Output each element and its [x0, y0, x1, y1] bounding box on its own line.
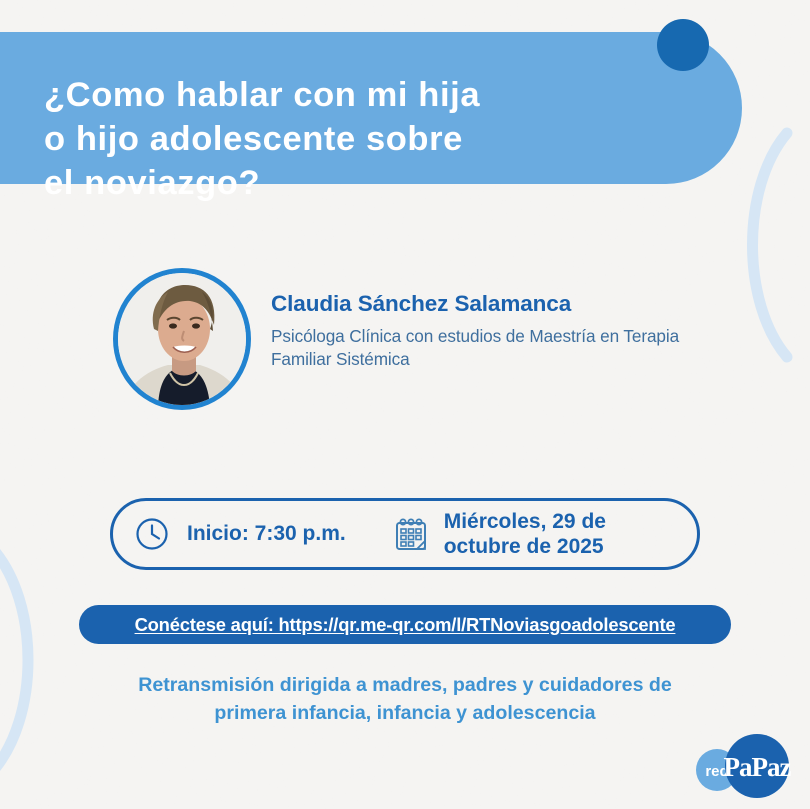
- speaker-name: Claudia Sánchez Salamanca: [271, 292, 711, 317]
- speaker-block: Claudia Sánchez Salamanca Psicóloga Clín…: [113, 268, 713, 414]
- red-papaz-logo: red PaPaz: [691, 733, 796, 799]
- time-group: Inicio: 7:30 p.m.: [135, 517, 346, 551]
- schedule-box: Inicio: 7:30 p.m. Miércoles, 29 de octub…: [110, 498, 700, 570]
- logo-papaz-label: PaPaz: [724, 752, 792, 782]
- connect-link-button[interactable]: Conéctese aquí: https://qr.me-qr.com/l/R…: [79, 605, 731, 644]
- speaker-role: Psicóloga Clínica con estudios de Maestr…: [271, 325, 711, 371]
- accent-dot: [657, 19, 709, 71]
- speaker-portrait-image: [118, 273, 248, 407]
- audience-note: Retransmisión dirigida a madres, padres …: [105, 672, 705, 728]
- decorative-arc-right-icon: [735, 125, 805, 365]
- header-banner: ¿Como hablar con mi hija o hijo adolesce…: [0, 32, 742, 184]
- event-date-label: Miércoles, 29 de octubre de 2025: [444, 509, 606, 559]
- page-title: ¿Como hablar con mi hija o hijo adolesce…: [44, 74, 704, 205]
- clock-icon: [135, 517, 169, 551]
- calendar-icon: [394, 516, 428, 552]
- avatar: [113, 268, 251, 410]
- decorative-arc-left-icon: [0, 540, 82, 780]
- speaker-text: Claudia Sánchez Salamanca Psicóloga Clín…: [271, 292, 711, 371]
- poster-canvas: ¿Como hablar con mi hija o hijo adolesce…: [0, 0, 810, 809]
- date-group: Miércoles, 29 de octubre de 2025: [394, 509, 606, 559]
- connect-link-label[interactable]: Conéctese aquí: https://qr.me-qr.com/l/R…: [135, 614, 676, 636]
- start-time-label: Inicio: 7:30 p.m.: [187, 522, 346, 546]
